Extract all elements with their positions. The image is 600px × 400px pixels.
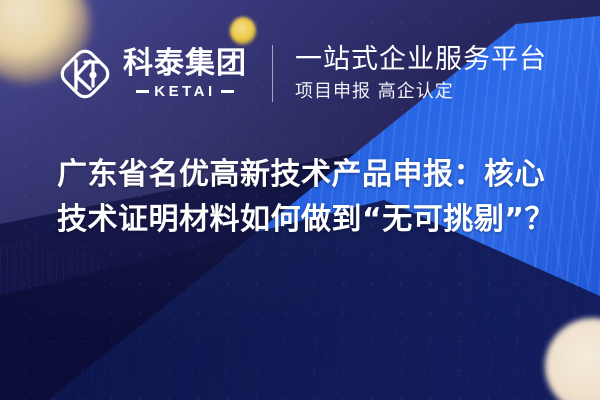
brand-name-cn: 科泰集团	[123, 49, 247, 80]
wordmark-left-bar-icon	[136, 90, 149, 93]
brand-wordmark: 科泰集团 KETAI	[123, 47, 247, 100]
banner-headline: 广东省名优高新技术产品申报：核心技术证明材料如何做到“无可挑剔”？	[57, 152, 557, 242]
header-vertical-divider	[272, 45, 273, 102]
promo-banner: 科泰集团 KETAI 一站式企业服务平台 项目申报 高企认定 广东省名优高新技术…	[0, 0, 600, 400]
banner-header: 科泰集团 KETAI 一站式企业服务平台 项目申报 高企认定	[57, 44, 547, 103]
wordmark-right-bar-icon	[221, 90, 234, 93]
tagline-main: 一站式企业服务平台	[295, 44, 547, 75]
ketai-diamond-kt-monogram-icon	[57, 45, 113, 103]
brand-name-en: KETAI	[154, 83, 215, 100]
brand-name-en-row: KETAI	[136, 83, 233, 100]
tagline-block: 一站式企业服务平台 项目申报 高企认定	[295, 44, 547, 103]
tagline-sub: 项目申报 高企认定	[295, 80, 547, 103]
